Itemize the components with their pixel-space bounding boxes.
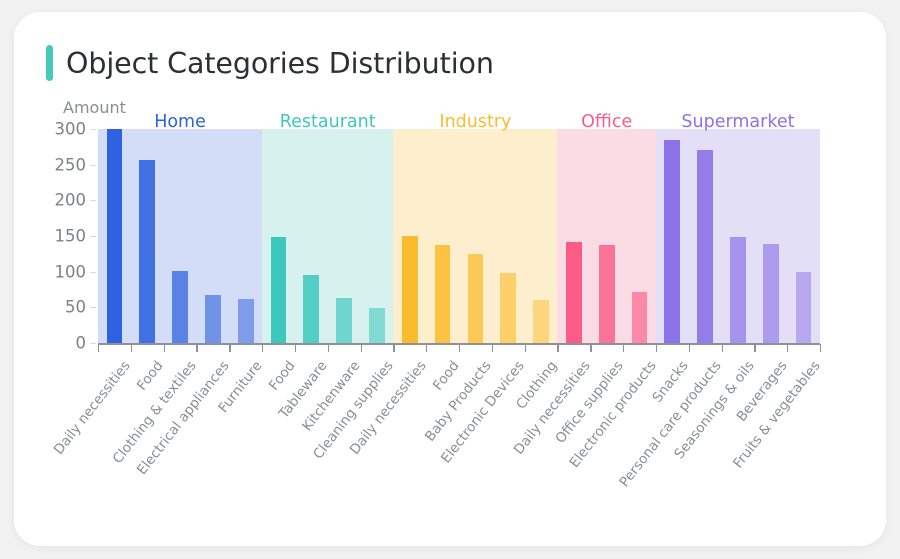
x-axis-tick xyxy=(426,344,427,352)
bar[interactable] xyxy=(303,275,319,343)
bar[interactable] xyxy=(533,300,549,344)
bar[interactable] xyxy=(139,160,155,343)
y-axis-tick-label: 150 xyxy=(55,227,87,246)
x-axis-tick xyxy=(361,344,362,352)
bar[interactable] xyxy=(566,242,582,343)
x-axis-tick xyxy=(787,344,788,352)
chart-card: Object Categories Distribution Amount 05… xyxy=(14,12,886,546)
x-axis-tick xyxy=(229,344,230,352)
bar[interactable] xyxy=(238,299,254,343)
group-title-restaurant: Restaurant xyxy=(262,112,393,132)
bar[interactable] xyxy=(402,236,418,343)
x-axis-tick xyxy=(393,344,394,352)
x-axis-tick xyxy=(164,344,165,352)
x-axis-tick xyxy=(656,344,657,352)
x-axis-tick xyxy=(722,344,723,352)
x-axis-tick xyxy=(623,344,624,352)
bar[interactable] xyxy=(697,150,713,343)
bar[interactable] xyxy=(763,244,779,343)
group-title-industry: Industry xyxy=(393,112,557,132)
y-gridline xyxy=(90,236,96,237)
x-axis-tick xyxy=(98,344,99,352)
bar[interactable] xyxy=(369,308,385,343)
x-axis-tick xyxy=(492,344,493,352)
x-axis-tick xyxy=(459,344,460,352)
y-axis-tick-label: 200 xyxy=(55,191,87,210)
x-axis-tick xyxy=(131,344,132,352)
x-axis-tick xyxy=(754,344,755,352)
y-gridline xyxy=(90,200,96,201)
x-axis-tick xyxy=(689,344,690,352)
y-axis-tick-label: 0 xyxy=(76,334,87,353)
x-axis-tick xyxy=(557,344,558,352)
bar[interactable] xyxy=(599,245,615,343)
bar[interactable] xyxy=(468,254,484,343)
y-gridline xyxy=(90,165,96,166)
group-title-supermarket: Supermarket xyxy=(656,112,820,132)
bar[interactable] xyxy=(336,298,352,343)
bar[interactable] xyxy=(632,292,648,343)
x-axis-tick xyxy=(820,344,821,352)
bar[interactable] xyxy=(107,129,123,343)
y-axis-tick-label: 300 xyxy=(55,120,87,139)
plot-area: 050100150200250300 xyxy=(98,129,820,343)
group-title-office: Office xyxy=(557,112,655,132)
y-gridline xyxy=(90,129,96,130)
x-axis-tick xyxy=(328,344,329,352)
bar[interactable] xyxy=(271,237,287,343)
x-axis-tick xyxy=(590,344,591,352)
bar[interactable] xyxy=(205,295,221,343)
group-title-home: Home xyxy=(98,112,262,132)
bar[interactable] xyxy=(730,237,746,343)
y-gridline xyxy=(90,272,96,273)
x-axis-tick xyxy=(295,344,296,352)
bar[interactable] xyxy=(796,272,812,343)
x-axis-tick xyxy=(262,344,263,352)
y-axis-tick-label: 250 xyxy=(55,155,87,174)
bar[interactable] xyxy=(172,271,188,343)
x-axis-tick xyxy=(525,344,526,352)
x-axis-tick xyxy=(196,344,197,352)
y-gridline xyxy=(90,307,96,308)
y-gridline xyxy=(90,343,96,344)
bar[interactable] xyxy=(435,245,451,343)
bar[interactable] xyxy=(664,140,680,343)
bar-chart: Amount 050100150200250300 HomeDaily nece… xyxy=(14,12,886,546)
y-axis-tick-label: 100 xyxy=(55,262,87,281)
y-axis-tick-label: 50 xyxy=(65,298,86,317)
bar[interactable] xyxy=(500,273,516,343)
